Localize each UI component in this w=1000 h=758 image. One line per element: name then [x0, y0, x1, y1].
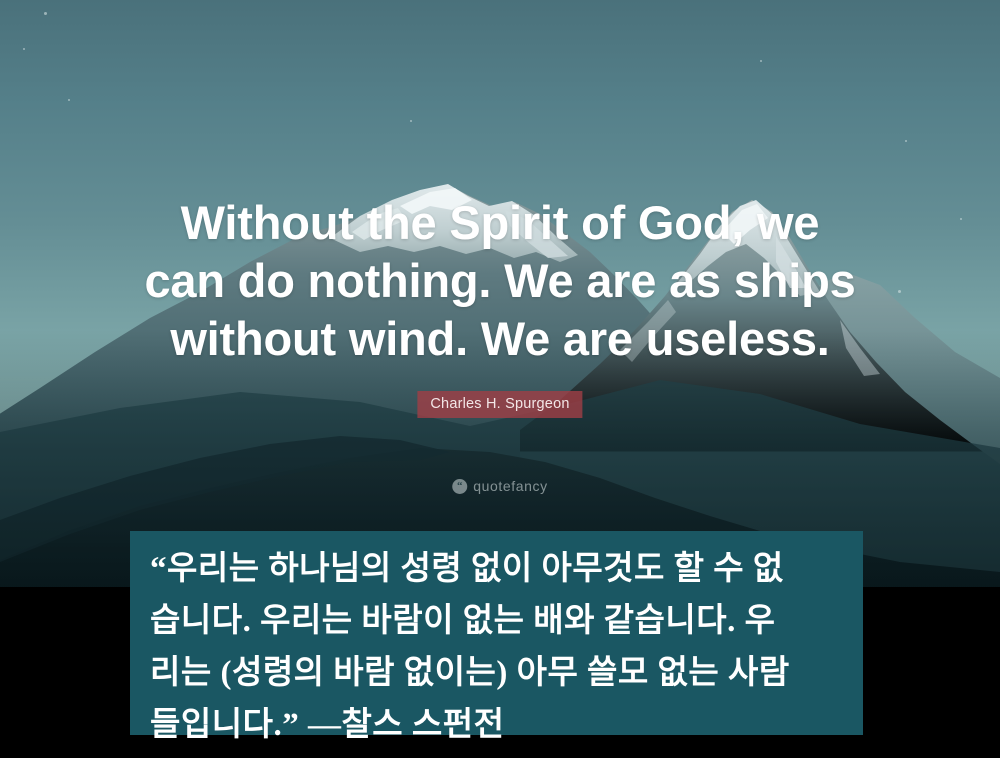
quote-mark-icon: “ [452, 479, 467, 494]
quotefancy-watermark: “ quotefancy [452, 479, 548, 494]
author-badge: Charles H. Spurgeon [417, 391, 582, 418]
korean-translation-panel: “우리는 하나님의 성령 없이 아무것도 할 수 없 습니다. 우리는 바람이 … [130, 531, 863, 735]
quote-text: Without the Spirit of God, we can do not… [0, 194, 1000, 368]
quote-poster: Without the Spirit of God, we can do not… [0, 0, 1000, 758]
korean-translation-text: “우리는 하나님의 성령 없이 아무것도 할 수 없 습니다. 우리는 바람이 … [150, 543, 847, 751]
watermark-label: quotefancy [473, 479, 548, 494]
